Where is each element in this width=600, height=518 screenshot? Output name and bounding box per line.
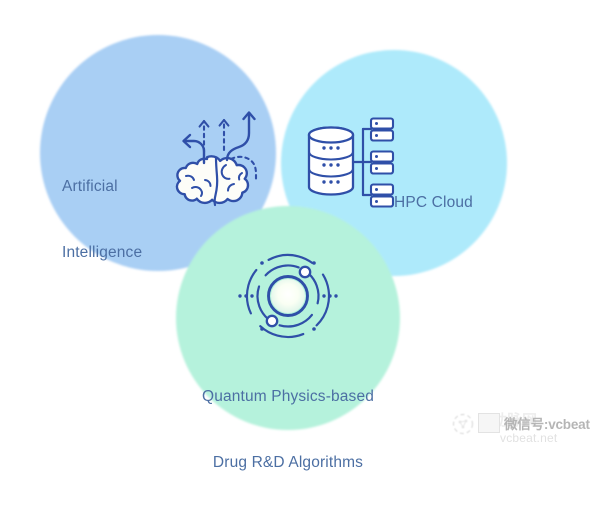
watermark-wechat-text: 微信号:vcbeat xyxy=(504,413,590,433)
watermark-site-text: vcbeat.net xyxy=(500,431,557,445)
watermark-badge-icon xyxy=(478,413,500,433)
watermark-logo-slot xyxy=(452,413,474,433)
watermark: 动脉网 微信号:vcbeat vcbeat.net xyxy=(452,409,592,451)
venn-diagram xyxy=(0,0,600,455)
watermark-row: 微信号:vcbeat xyxy=(452,413,590,433)
label-line-quantum-2: Drug R&D Algorithms xyxy=(180,452,396,474)
circle-quantum-drug-algorithms xyxy=(176,206,400,430)
diagram-canvas: Artificial Intelligence HPC Cloud Quantu… xyxy=(0,0,600,455)
